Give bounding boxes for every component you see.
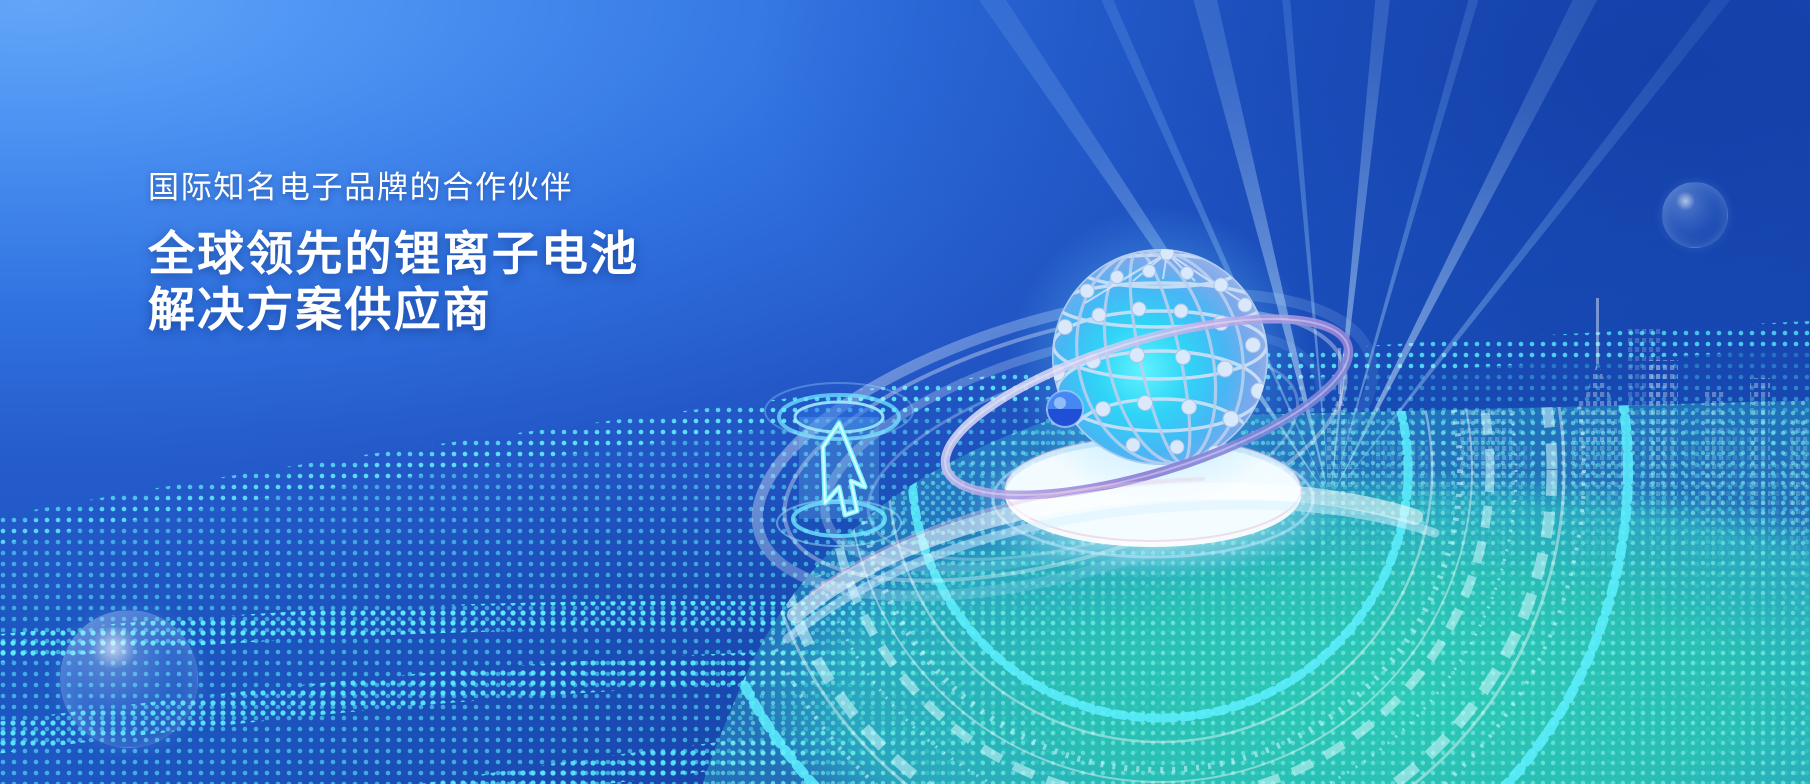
city-skyline-icon [1320, 230, 1810, 660]
light-rays-icon [880, 0, 1780, 540]
hero-eyebrow: 国际知名电子品牌的合作伙伴 [148, 168, 788, 208]
hero-banner: 国际知名电子品牌的合作伙伴 全球领先的锂离子电池 解决方案供应商 [0, 0, 1810, 784]
background-gradient-overlay [0, 0, 1810, 784]
background-gradient [0, 0, 1810, 784]
bubble-icon [1662, 182, 1728, 248]
hero-copy: 国际知名电子品牌的合作伙伴 全球领先的锂离子电池 解决方案供应商 [148, 168, 788, 338]
hero-headline-line-2: 解决方案供应商 [148, 282, 788, 338]
upward-arrow-cursor-icon [823, 423, 865, 515]
bubble-icon [60, 610, 198, 748]
cyan-wave-ribbon-icon [0, 0, 1810, 784]
hero-headline-line-1: 全球领先的锂离子电池 [148, 226, 788, 282]
teal-zone-icon [0, 0, 1810, 784]
wireframe-globe-icon [735, 195, 1395, 675]
dot-matrix-wave-icon [0, 0, 1810, 784]
